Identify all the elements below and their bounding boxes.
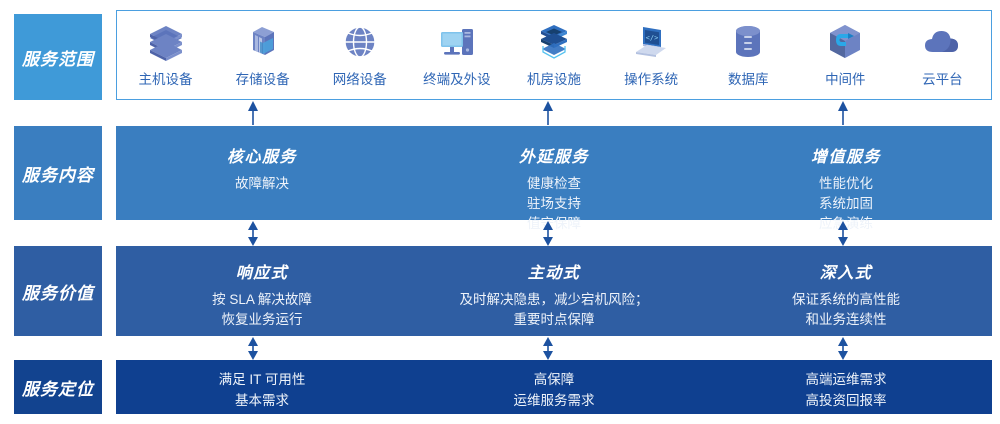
- row-label-service-content: 服务内容: [14, 126, 102, 220]
- cell-title: 外延服务: [519, 143, 589, 167]
- value-cell-in-depth: 深入式 保证系统的高性能 和业务连续性: [700, 246, 992, 336]
- cell-line: 重要时点保障: [514, 310, 595, 330]
- globe-network-icon: [338, 20, 382, 64]
- cell-line: 高投资回报率: [806, 390, 887, 411]
- laptop-code-icon: </>: [629, 20, 673, 64]
- row-label-text: 服务定位: [22, 375, 94, 400]
- scope-item-label: 终端及外设: [423, 68, 491, 88]
- connector-scope-to-content-left: [246, 101, 260, 125]
- service-framework-diagram: 服务范围 服务内容 服务价值 服务定位: [0, 0, 1000, 424]
- service-content-band: 核心服务 故障解决 外延服务 健康检查 驻场支持 值守保障 增值服务 性能优化 …: [116, 126, 992, 220]
- scope-item-data-center-facility[interactable]: 机房设施: [505, 12, 602, 98]
- database-cylinder-icon: [726, 20, 770, 64]
- value-cell-proactive: 主动式 及时解决隐患，减少宕机风险； 重要时点保障: [408, 246, 700, 336]
- connector-content-to-value-left: [246, 221, 260, 246]
- service-positioning-band: 满足 IT 可用性 基本需求 高保障 运维服务需求 高端运维需求 高投资回报率: [116, 360, 992, 414]
- connector-scope-to-content-center: [541, 101, 555, 125]
- connector-content-to-value-right: [836, 221, 850, 246]
- row-label-text: 服务内容: [22, 161, 94, 186]
- cell-title: 响应式: [236, 259, 289, 283]
- positioning-cell-high-assurance: 高保障 运维服务需求: [408, 360, 700, 414]
- cube-middleware-icon: [823, 20, 867, 64]
- cell-line: 满足 IT 可用性: [219, 369, 306, 390]
- cell-line: 及时解决隐患，减少宕机风险；: [460, 290, 649, 310]
- connector-value-to-position-right: [836, 337, 850, 360]
- data-center-facility-icon: [532, 20, 576, 64]
- connector-value-to-position-center: [541, 337, 555, 360]
- content-cell-extended-service: 外延服务 健康检查 驻场支持 值守保障: [408, 126, 700, 220]
- row-label-service-positioning: 服务定位: [14, 360, 102, 414]
- scope-item-label: 存储设备: [236, 68, 290, 88]
- storage-array-icon: [241, 20, 285, 64]
- row-label-text: 服务范围: [22, 45, 94, 70]
- cell-title: 增值服务: [811, 143, 881, 167]
- svg-text:</>: </>: [646, 34, 659, 42]
- scope-item-label: 操作系统: [624, 68, 678, 88]
- cell-line: 保证系统的高性能: [792, 290, 900, 310]
- connector-content-to-value-center: [541, 221, 555, 246]
- cell-line: 健康检查: [527, 174, 581, 194]
- cell-line: 驻场支持: [527, 194, 581, 214]
- scope-item-label: 机房设施: [527, 68, 581, 88]
- service-value-band: 响应式 按 SLA 解决故障 恢复业务运行 主动式 及时解决隐患，减少宕机风险；…: [116, 246, 992, 336]
- cell-line: 和业务连续性: [806, 310, 887, 330]
- positioning-cell-high-end: 高端运维需求 高投资回报率: [700, 360, 992, 414]
- cell-title: 主动式: [528, 259, 581, 283]
- scope-item-middleware[interactable]: 中间件: [797, 12, 894, 98]
- row-label-text: 服务价值: [22, 279, 94, 304]
- scope-item-terminal-peripherals[interactable]: 终端及外设: [408, 12, 505, 98]
- service-scope-band: 主机设备 存储设备: [116, 10, 992, 100]
- connector-scope-to-content-right: [836, 101, 850, 125]
- scope-item-database[interactable]: 数据库: [700, 12, 797, 98]
- cell-line: 按 SLA 解决故障: [212, 290, 312, 310]
- scope-item-operating-system[interactable]: </> 操作系统: [603, 12, 700, 98]
- desktop-pc-icon: [435, 20, 479, 64]
- cell-title: 核心服务: [227, 143, 297, 167]
- server-stack-icon: [144, 20, 188, 64]
- scope-item-network-equipment[interactable]: 网络设备: [311, 12, 408, 98]
- cell-line: 故障解决: [235, 174, 289, 194]
- cloud-icon: [920, 20, 964, 64]
- row-label-service-value: 服务价值: [14, 246, 102, 336]
- connector-value-to-position-left: [246, 337, 260, 360]
- positioning-cell-basic: 满足 IT 可用性 基本需求: [116, 360, 408, 414]
- cell-line: 性能优化: [819, 174, 873, 194]
- content-cell-core-service: 核心服务 故障解决: [116, 126, 408, 220]
- content-cell-value-added-service: 增值服务 性能优化 系统加固 应急演练: [700, 126, 992, 220]
- scope-item-label: 中间件: [825, 68, 866, 88]
- row-label-service-scope: 服务范围: [14, 14, 102, 100]
- cell-line: 运维服务需求: [514, 390, 595, 411]
- cell-line: 系统加固: [819, 194, 873, 214]
- scope-item-label: 网络设备: [333, 68, 387, 88]
- cell-line: 高端运维需求: [806, 369, 887, 390]
- scope-item-host-equipment[interactable]: 主机设备: [117, 12, 214, 98]
- cell-title: 深入式: [820, 259, 873, 283]
- scope-item-label: 云平台: [922, 68, 963, 88]
- cell-line: 基本需求: [235, 390, 289, 411]
- scope-item-label: 数据库: [728, 68, 769, 88]
- scope-item-storage-equipment[interactable]: 存储设备: [214, 12, 311, 98]
- scope-item-cloud-platform[interactable]: 云平台: [894, 12, 991, 98]
- cell-line: 高保障: [534, 369, 575, 390]
- scope-item-label: 主机设备: [139, 68, 193, 88]
- cell-line: 恢复业务运行: [222, 310, 303, 330]
- value-cell-responsive: 响应式 按 SLA 解决故障 恢复业务运行: [116, 246, 408, 336]
